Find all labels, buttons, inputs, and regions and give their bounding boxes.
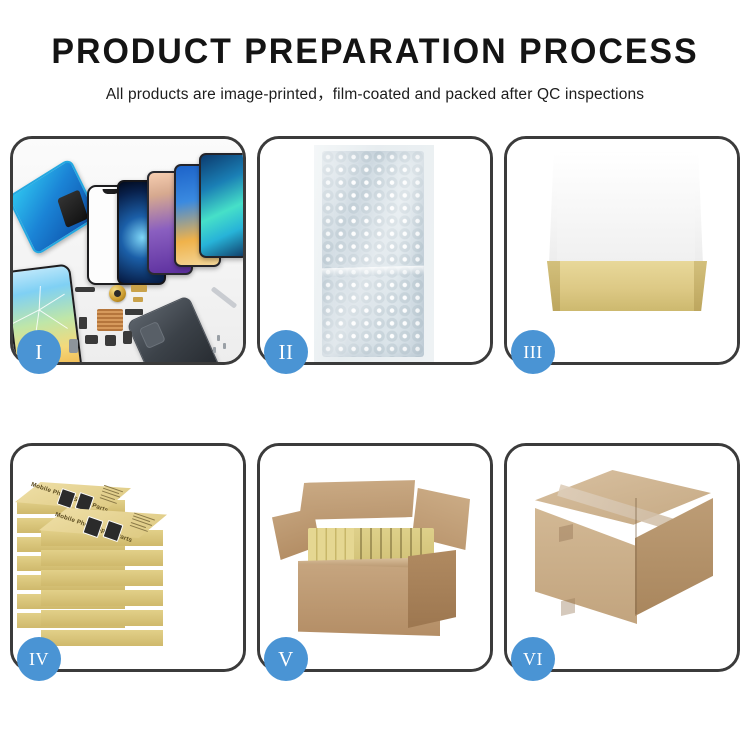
step-panel-vi: VI	[504, 443, 740, 672]
steps-grid: I II III	[10, 136, 740, 672]
page-subtitle: All products are image-printed，film-coat…	[0, 82, 750, 104]
small-part-chip	[79, 317, 87, 329]
carton-corner-seam	[635, 498, 637, 614]
box-inner-liner	[557, 189, 695, 263]
box-kraft-base	[547, 261, 707, 311]
small-part-chip	[105, 335, 116, 346]
carton-left-face	[535, 508, 637, 624]
small-part-chip	[123, 331, 132, 344]
step-panel-ii: II	[257, 136, 493, 365]
step-badge-ii: II	[264, 330, 308, 374]
small-part-chip	[85, 335, 98, 344]
plastic-sheen	[322, 151, 424, 357]
stacked-box-edge	[41, 610, 163, 626]
stacked-box-edge	[41, 590, 163, 606]
box-stack: Mobile Phone Spare Parts	[13, 446, 243, 669]
copper-mesh-part	[97, 309, 123, 331]
bubble-wrap-icon	[260, 139, 490, 362]
connector-part	[125, 309, 143, 315]
stacked-boxes-icon: Mobile Phone Spare Parts	[13, 446, 243, 669]
step-badge-iv: IV	[17, 637, 61, 681]
stacked-box-edge	[41, 630, 163, 646]
step-badge-i: I	[17, 330, 61, 374]
flex-cable-part	[133, 297, 143, 302]
step-badge-iii: III	[511, 330, 555, 374]
phone-back-housing	[126, 295, 224, 362]
screw-part	[223, 343, 226, 349]
camera-ring-part	[109, 285, 126, 302]
step-panel-v: V	[257, 443, 493, 672]
step-badge-vi: VI	[511, 637, 555, 681]
carton-handle-notch	[561, 598, 575, 616]
sealed-carton-icon	[507, 446, 737, 669]
step-panel-i: I	[10, 136, 246, 365]
step-badge-v: V	[264, 637, 308, 681]
step-panel-iii: III	[504, 136, 740, 365]
phone-screen-teal	[199, 153, 243, 258]
phone-parts-icon	[13, 139, 243, 362]
box-left-lip	[547, 261, 560, 311]
screw-part	[217, 335, 220, 341]
box-right-lip	[694, 261, 707, 311]
screw-part	[213, 347, 216, 353]
small-part-chip	[69, 339, 78, 353]
step-panel-iv: Mobile Phone Spare Parts	[10, 443, 246, 672]
stacked-box-edge	[41, 570, 163, 586]
open-mailer-box-icon	[507, 139, 737, 362]
flex-cable-part	[131, 285, 147, 292]
page-title: PRODUCT PREPARATION PROCESS	[11, 34, 739, 71]
header: PRODUCT PREPARATION PROCESS All products…	[0, 0, 750, 104]
open-carton-icon	[260, 446, 490, 669]
stacked-box-edge	[41, 550, 163, 566]
tweezers-tool	[211, 286, 238, 308]
small-part-strip	[75, 287, 95, 292]
carton-right-face	[408, 550, 456, 628]
carton-back-flap	[297, 477, 417, 523]
product-preparation-infographic: PRODUCT PREPARATION PROCESS All products…	[0, 0, 750, 750]
